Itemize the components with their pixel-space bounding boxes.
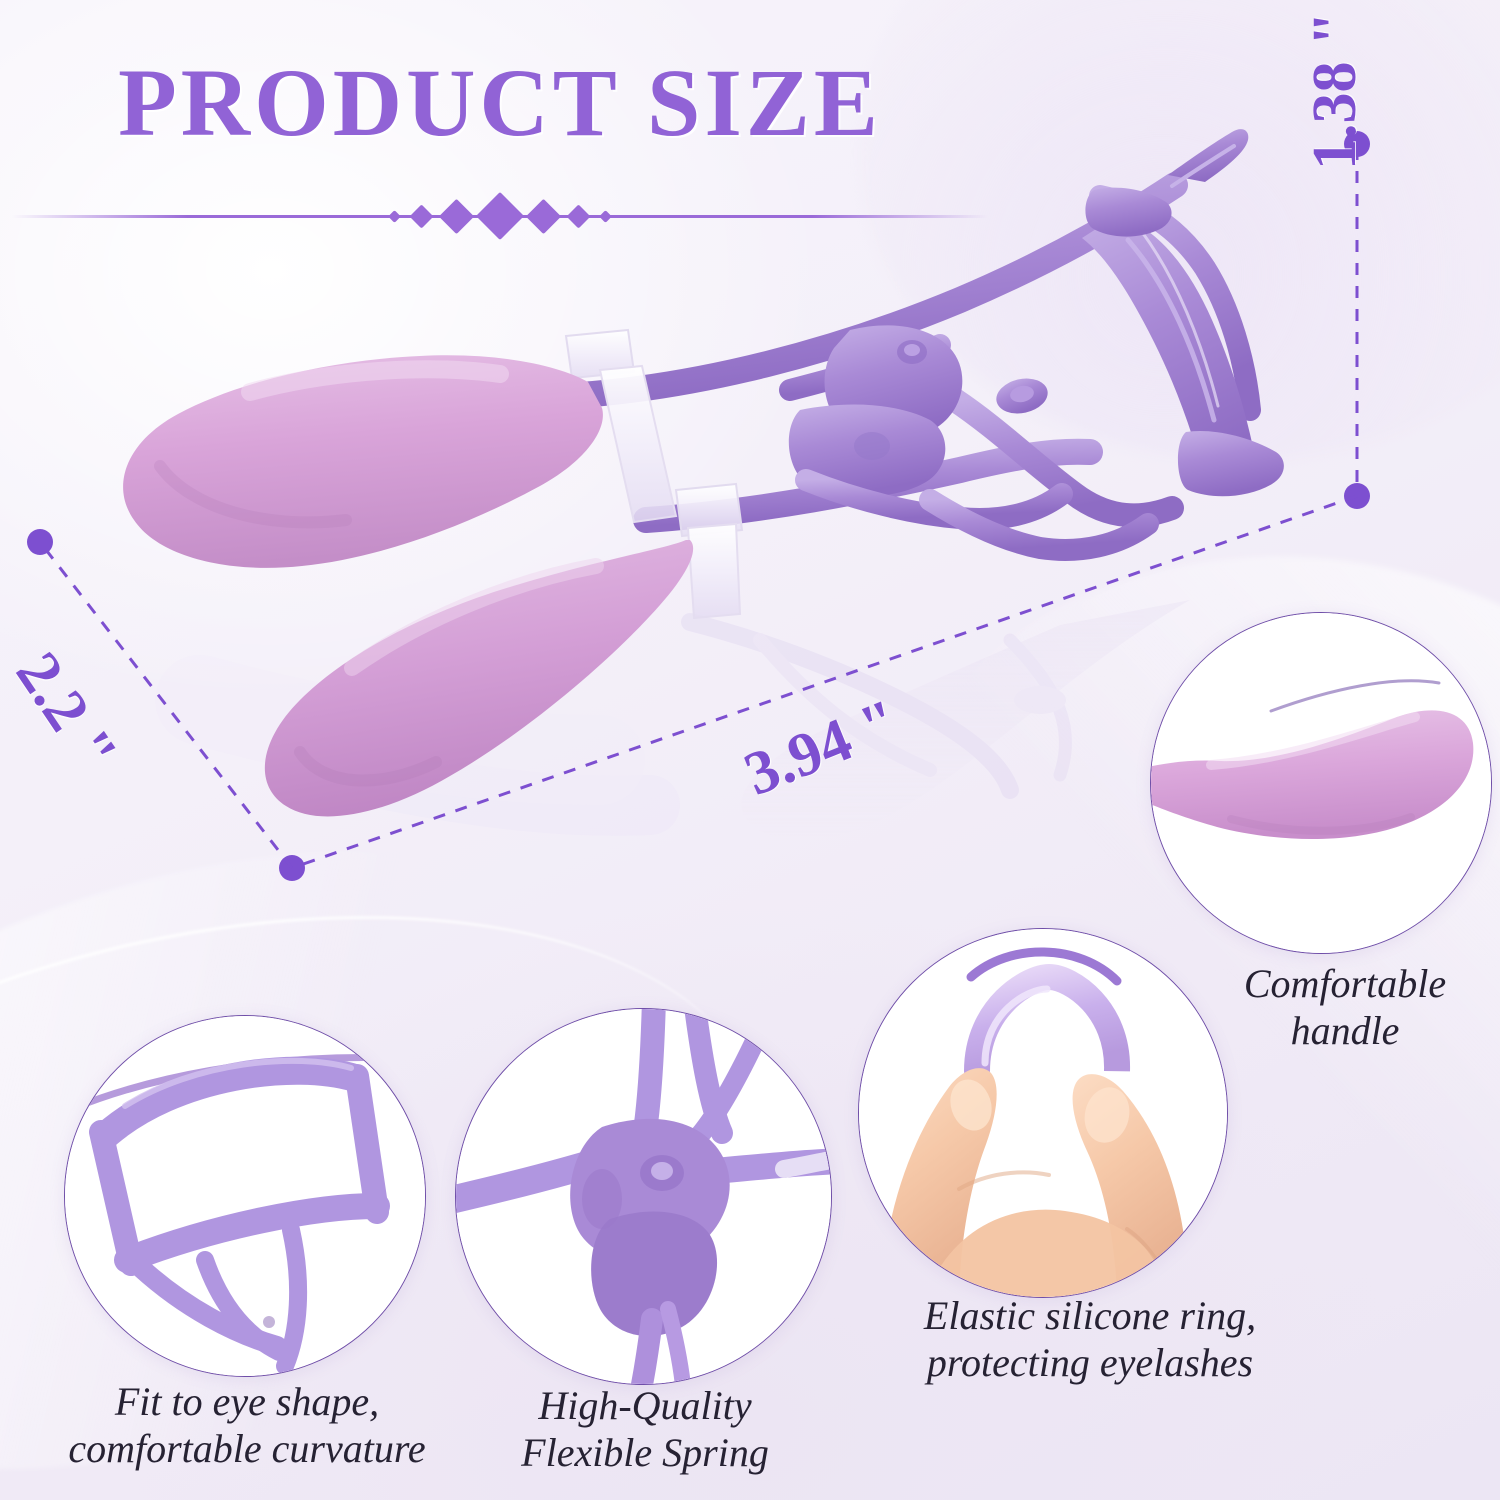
feature-caption-silicone-ring: Elastic silicone ring, protecting eyelas… — [850, 1292, 1330, 1386]
detail-circle-handle — [1150, 612, 1492, 954]
detail-circle-eye-shape — [64, 1015, 426, 1377]
feature-caption-handle: Comfortable handle — [1195, 960, 1495, 1054]
feature-caption-spring: High-Quality Flexible Spring — [470, 1382, 820, 1476]
infographic-canvas: PRODUCT SIZE — [0, 0, 1500, 1500]
detail-circle-spring — [455, 1008, 832, 1385]
detail-circle-silicone-ring — [858, 928, 1228, 1298]
feature-caption-eye-shape: Fit to eye shape, comfortable curvature — [22, 1378, 472, 1472]
